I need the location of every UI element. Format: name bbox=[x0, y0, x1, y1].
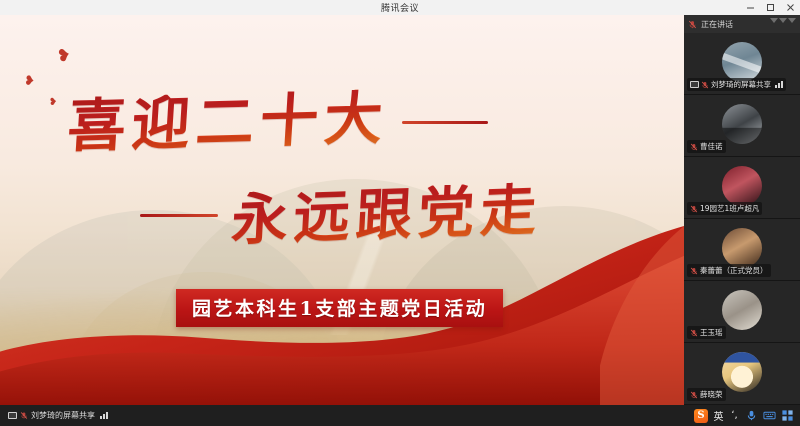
participant-label: 王玉瑶 bbox=[687, 326, 726, 339]
headline-line2-text: 永远跟党走 bbox=[230, 182, 544, 249]
slide-headline-line2: 永远跟党走 bbox=[140, 187, 542, 243]
participant-tile[interactable]: 曹佳诺 bbox=[684, 95, 800, 157]
participant-name: 薛晓荣 bbox=[700, 389, 723, 400]
microphone-muted-icon bbox=[690, 391, 698, 399]
shared-screen-stage[interactable]: ❥ ❥ ❥ 喜迎二十大 bbox=[0, 15, 684, 405]
system-tray: S 英 ʻ, bbox=[694, 405, 798, 426]
headline-rule bbox=[402, 121, 488, 124]
microphone-muted-icon bbox=[701, 81, 709, 89]
avatar-image bbox=[722, 352, 762, 392]
avatar bbox=[722, 42, 762, 82]
bird-icon: ❥ bbox=[24, 75, 36, 89]
minimize-button[interactable] bbox=[740, 0, 760, 15]
microphone-muted-icon bbox=[690, 329, 698, 337]
avatar bbox=[722, 104, 762, 144]
participant-tile[interactable]: 薛晓荣 bbox=[684, 343, 800, 405]
collapse-rail-button[interactable] bbox=[770, 18, 796, 23]
participant-label: 曹佳诺 bbox=[687, 140, 726, 153]
participant-label: 薛晓荣 bbox=[687, 388, 726, 401]
participant-tile[interactable]: 刘梦琦的屏幕共享 bbox=[684, 33, 800, 95]
rail-header: 正在讲话 bbox=[684, 15, 800, 33]
participant-rail: 正在讲话 刘梦琦的屏幕共享曹佳诺19园艺1班卢超凡秦蕾蕾（正式党员）王玉瑶薛晓荣 bbox=[684, 15, 800, 405]
avatar bbox=[722, 352, 762, 392]
microphone-muted-icon bbox=[690, 267, 698, 275]
rail-header-label: 正在讲话 bbox=[701, 19, 733, 30]
avatar-image bbox=[722, 166, 762, 206]
microphone-muted-icon bbox=[20, 411, 28, 420]
window-title: 腾讯会议 bbox=[381, 1, 419, 14]
participant-name: 刘梦琦的屏幕共享 bbox=[711, 79, 771, 90]
signal-strength-icon bbox=[775, 81, 783, 88]
screen-share-icon bbox=[690, 81, 699, 88]
taskbar-active-task[interactable]: 刘梦琦的屏幕共享 bbox=[3, 407, 113, 424]
sogou-ime-logo-icon[interactable]: S bbox=[694, 409, 708, 423]
signal-strength-icon bbox=[100, 412, 108, 419]
participant-tile[interactable]: 19园艺1班卢超凡 bbox=[684, 157, 800, 219]
maximize-button[interactable] bbox=[760, 0, 780, 15]
ime-toolbox-icon[interactable] bbox=[781, 409, 794, 422]
voice-input-icon[interactable] bbox=[745, 409, 758, 422]
chevron-down-icon bbox=[779, 18, 787, 23]
bird-icon: ❥ bbox=[55, 47, 72, 67]
avatar-image bbox=[722, 104, 762, 144]
avatar bbox=[722, 290, 762, 330]
participant-tiles: 刘梦琦的屏幕共享曹佳诺19园艺1班卢超凡秦蕾蕾（正式党员）王玉瑶薛晓荣 bbox=[684, 33, 800, 405]
screen-share-icon bbox=[8, 412, 17, 419]
participant-name: 曹佳诺 bbox=[700, 141, 723, 152]
microphone-muted-icon bbox=[690, 143, 698, 151]
ime-mode-toggle[interactable]: 英 bbox=[713, 409, 724, 423]
headline-rule bbox=[140, 214, 218, 217]
participant-name: 19园艺1班卢超凡 bbox=[700, 203, 759, 214]
avatar-image bbox=[722, 42, 762, 82]
taskbar-task-label: 刘梦琦的屏幕共享 bbox=[31, 410, 95, 421]
participant-tile[interactable]: 秦蕾蕾（正式党员） bbox=[684, 219, 800, 281]
microphone-muted-icon bbox=[688, 20, 697, 29]
tencent-meeting-window: 腾讯会议 ❥ ❥ ❥ bbox=[0, 0, 800, 426]
slide-subtitle-text: 园艺本科生1支部主题党日活动 bbox=[192, 298, 487, 320]
close-button[interactable] bbox=[780, 0, 800, 15]
avatar-image bbox=[722, 228, 762, 268]
avatar bbox=[722, 166, 762, 206]
soft-keyboard-icon[interactable] bbox=[763, 409, 776, 422]
slide-headline-line1: 喜迎二十大 bbox=[68, 93, 488, 151]
participant-name: 王玉瑶 bbox=[700, 327, 723, 338]
participant-label: 秦蕾蕾（正式党员） bbox=[687, 264, 771, 277]
microphone-muted-icon bbox=[690, 205, 698, 213]
avatar bbox=[722, 228, 762, 268]
window-controls bbox=[740, 0, 800, 15]
chevron-down-icon bbox=[788, 18, 796, 23]
window-titlebar: 腾讯会议 bbox=[0, 0, 800, 15]
participant-tile[interactable]: 王玉瑶 bbox=[684, 281, 800, 343]
avatar-image bbox=[722, 290, 762, 330]
slide-subtitle-banner: 园艺本科生1支部主题党日活动 bbox=[176, 289, 503, 327]
bird-icon: ❥ bbox=[49, 97, 58, 108]
participant-name: 秦蕾蕾（正式党员） bbox=[700, 265, 768, 276]
participant-label: 19园艺1班卢超凡 bbox=[687, 202, 762, 215]
chevron-down-icon bbox=[770, 18, 778, 23]
ime-punctuation-toggle[interactable]: ʻ, bbox=[729, 409, 740, 423]
participant-label: 刘梦琦的屏幕共享 bbox=[687, 78, 786, 91]
windows-taskbar: 刘梦琦的屏幕共享 S 英 ʻ, bbox=[0, 405, 800, 426]
headline-line1-text: 喜迎二十大 bbox=[66, 89, 390, 155]
